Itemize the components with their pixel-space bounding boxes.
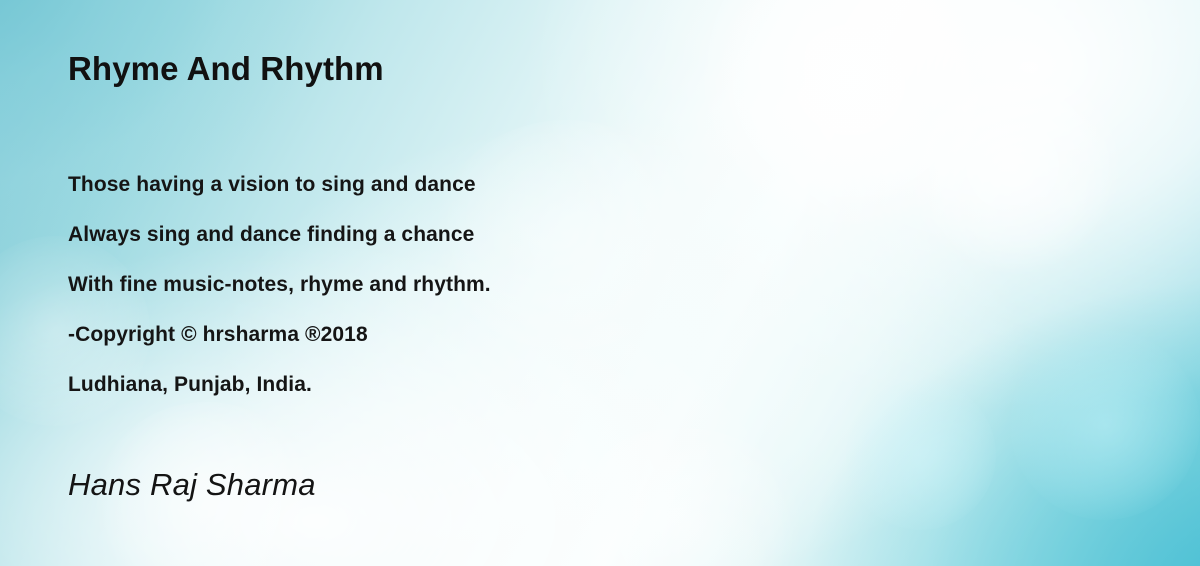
poem-copyright-line: -Copyright © hrsharma ®2018 <box>68 310 491 360</box>
poem-content: Rhyme And Rhythm Those having a vision t… <box>0 0 1200 566</box>
poem-author-name: Hans Raj Sharma <box>68 466 316 503</box>
poem-card: Rhyme And Rhythm Those having a vision t… <box>0 0 1200 566</box>
poem-line: Those having a vision to sing and dance <box>68 160 491 210</box>
poem-line: With fine music-notes, rhyme and rhythm. <box>68 260 491 310</box>
poem-body: Those having a vision to sing and dance … <box>68 160 491 410</box>
poem-title: Rhyme And Rhythm <box>68 51 384 88</box>
poem-line: Always sing and dance finding a chance <box>68 210 491 260</box>
poem-location-line: Ludhiana, Punjab, India. <box>68 360 491 410</box>
